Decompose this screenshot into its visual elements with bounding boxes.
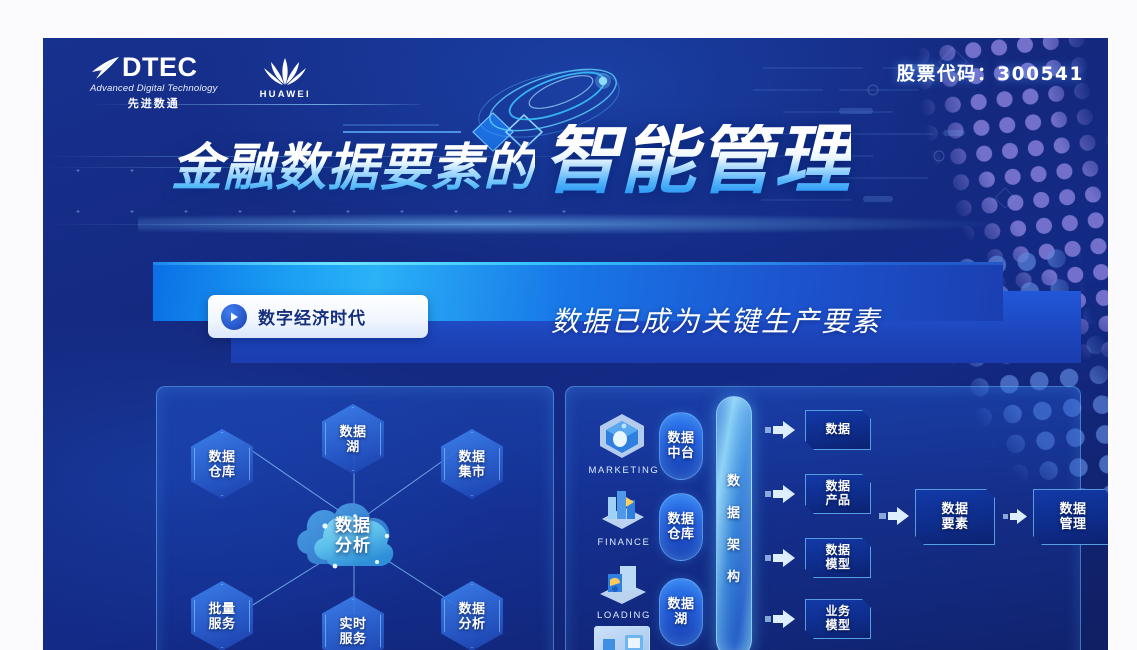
source-label-marketing: MARKETING: [579, 465, 669, 476]
output-box-label: 数据: [825, 423, 850, 437]
source-label-finance: FINANCE: [579, 537, 669, 548]
header-divider: [90, 104, 420, 105]
decorative-streak: [43, 224, 663, 225]
platform-pill-data-midend[interactable]: 数据中台: [659, 412, 703, 480]
output-box-data[interactable]: 数据: [805, 410, 871, 450]
subtitle-headline: 数据已成为关键生产要素: [551, 300, 881, 340]
stage-box-data-element[interactable]: 数据要素: [915, 489, 995, 545]
output-box-label: 业务模型: [825, 605, 850, 633]
output-box-label: 数据产品: [825, 480, 850, 508]
central-cloud-label: 数据分析: [291, 516, 415, 556]
output-box-label: 数据模型: [825, 544, 850, 572]
hex-node-label: 数据分析: [458, 601, 485, 631]
play-icon: [221, 304, 247, 330]
title-part-highlight: 智能管理: [543, 124, 851, 198]
cube-box-icon: [594, 411, 650, 461]
loading-truck-icon: [594, 556, 650, 606]
data-architecture-tube[interactable]: 数 据 架 构: [716, 396, 752, 650]
flow-arrow-icon: [765, 610, 795, 628]
hex-node-label: 数据湖: [339, 424, 366, 454]
dtec-chinese-name: 先进数通: [90, 95, 218, 111]
platform-pill-data-lake[interactable]: 数据湖: [659, 578, 703, 646]
hex-node-label: 批量服务: [208, 601, 235, 631]
dtec-wordmark: DTEC: [122, 54, 198, 81]
hex-node-label: 实时服务: [339, 616, 366, 646]
flow-arrow-icon: [1003, 509, 1027, 524]
dtec-logo: DTEC Advanced Digital Technology 先进数通: [90, 54, 218, 111]
huawei-flower-icon: [262, 56, 308, 86]
title-glow: [138, 213, 1018, 235]
pill-label: 数据仓库: [667, 512, 694, 542]
source-label-loading: LOADING: [579, 610, 669, 621]
dashboard-screen-icon: [594, 626, 650, 650]
pill-label: 数据中台: [667, 431, 694, 461]
flow-arrow-icon: [765, 485, 795, 503]
title-part-primary: 金融数据要素的: [171, 141, 535, 195]
huawei-logo: HUAWEI: [260, 54, 311, 100]
central-cloud-node[interactable]: 数据分析: [291, 490, 415, 582]
bank-chart-icon: [594, 483, 650, 533]
dtec-arrow-icon: [90, 55, 120, 81]
stage-box-data-management[interactable]: 数据管理: [1033, 489, 1108, 545]
presentation-slide: DTEC Advanced Digital Technology 先进数通 HU…: [43, 38, 1108, 650]
stage-box-label: 数据要素: [941, 502, 968, 532]
tube-char: 据: [727, 502, 741, 521]
section-badge-label: 数字经济时代: [258, 304, 366, 329]
flow-arrow-icon: [765, 421, 795, 439]
hex-node-label: 数据集市: [458, 449, 485, 479]
merge-arrow-icon: [879, 507, 909, 525]
pill-label: 数据湖: [667, 597, 694, 627]
output-box-data-product[interactable]: 数据产品: [805, 474, 871, 514]
flow-arrow-icon: [765, 549, 795, 567]
stock-code-label: 股票代码：300541: [897, 60, 1084, 86]
dtec-tagline: Advanced Digital Technology: [90, 83, 218, 94]
platform-pill-data-warehouse[interactable]: 数据仓库: [659, 493, 703, 561]
output-box-business-model[interactable]: 业务模型: [805, 599, 871, 639]
brand-logo-row: DTEC Advanced Digital Technology 先进数通 HU…: [90, 54, 311, 111]
hex-node-label: 数据仓库: [208, 449, 235, 479]
tube-char: 架: [727, 534, 741, 553]
tube-char: 数: [727, 470, 741, 489]
huawei-wordmark: HUAWEI: [260, 89, 311, 100]
output-box-data-model[interactable]: 数据模型: [805, 538, 871, 578]
section-badge[interactable]: 数字经济时代: [208, 295, 428, 338]
slide-title: 金融数据要素的 智能管理: [171, 124, 851, 194]
stage-box-label: 数据管理: [1059, 502, 1086, 532]
tube-char: 构: [727, 566, 741, 585]
halftone-dot-pattern: [827, 38, 1108, 444]
